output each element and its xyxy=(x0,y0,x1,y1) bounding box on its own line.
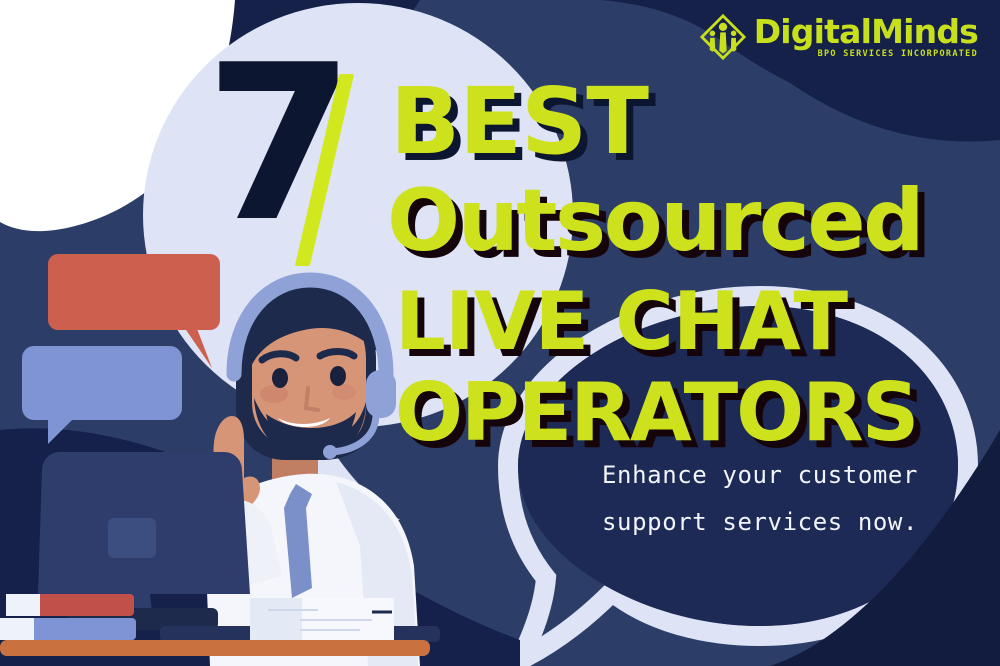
brand-name: DigitalMinds xyxy=(754,15,978,48)
diamond-people-icon xyxy=(700,14,746,60)
blue-speech-bubble-icon xyxy=(22,346,182,444)
headline-word-operators: OPERATORS xyxy=(395,373,917,453)
desk-surface xyxy=(0,640,430,656)
subtitle-line-1: Enhance your customer xyxy=(602,452,982,499)
paper-stack xyxy=(250,598,394,642)
headline-word-outsourced: Outsourced xyxy=(387,178,922,264)
brand-logo[interactable]: DigitalMinds BPO SERVICES INCORPORATED xyxy=(700,14,978,60)
headline-word-livechat: LIVE CHAT xyxy=(395,282,847,362)
brand-tagline: BPO SERVICES INCORPORATED xyxy=(818,50,978,59)
headline-block: 7 BEST Outsourced LIVE CHAT OPERATORS xyxy=(205,60,995,192)
logo-text: DigitalMinds BPO SERVICES INCORPORATED xyxy=(754,15,978,59)
subtitle-line-2: support services now. xyxy=(602,499,982,546)
headline-word-best: BEST xyxy=(390,76,648,168)
subtitle-block: Enhance your customer support services n… xyxy=(602,452,982,546)
promo-banner: DigitalMinds BPO SERVICES INCORPORATED 7… xyxy=(0,0,1000,666)
